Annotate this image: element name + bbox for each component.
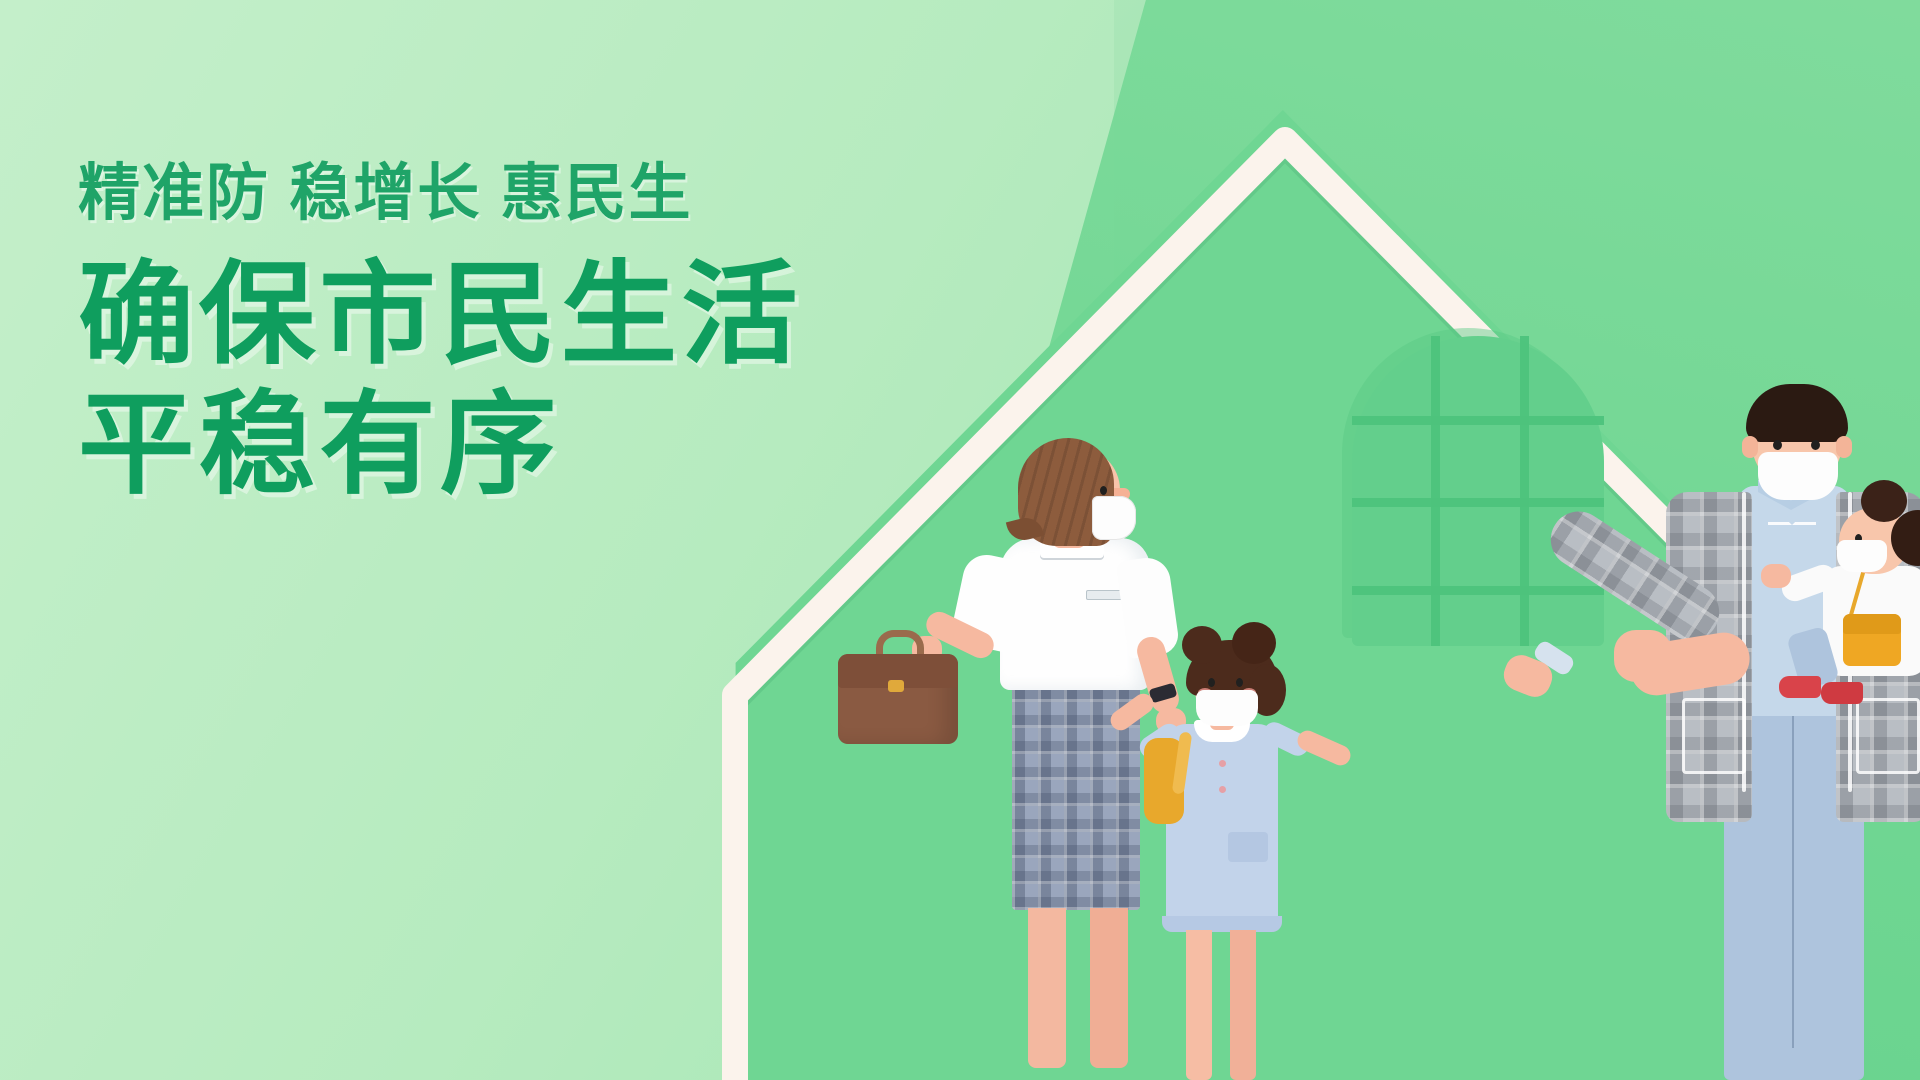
daughter-hair-bun-right: [1232, 622, 1276, 664]
daughter-hair-bun-left: [1182, 626, 1222, 664]
daughter-eye-left: [1208, 678, 1215, 687]
figure-toddler: [1795, 510, 1920, 740]
father-ear-left: [1742, 436, 1758, 458]
daughter-leg-left: [1186, 930, 1212, 1080]
father-coat-pocket-left: [1682, 698, 1746, 774]
daughter-forearm-right: [1294, 727, 1353, 768]
daughter-pocket: [1228, 832, 1268, 862]
toddler-face-mask: [1837, 540, 1887, 572]
window-mullion-h3: [1352, 586, 1604, 595]
mother-eye: [1100, 486, 1107, 495]
toddler-hand: [1761, 564, 1791, 588]
toddler-shoe-left: [1779, 676, 1821, 698]
arched-window: [1352, 336, 1604, 646]
father-eye-left: [1773, 440, 1782, 450]
headline-line-2: 平稳有序: [78, 380, 993, 510]
mother-handbag-clasp: [888, 680, 904, 692]
toddler-shoulder-bag-flap: [1843, 614, 1901, 634]
daughter-face-mask: [1196, 690, 1258, 726]
headline-line-1: 确保市民生活: [78, 250, 993, 380]
father-hand-supporting: [1614, 630, 1672, 682]
headline-block: 精准防 稳增长 惠民生 确保市民生活 平稳有序: [78, 160, 958, 510]
window-mullion-h1: [1352, 416, 1604, 425]
father-hair: [1746, 384, 1848, 442]
poster-headline: 确保市民生活 平稳有序: [78, 250, 993, 510]
daughter-eye-right: [1236, 678, 1243, 687]
father-eyebrow-right: [1806, 428, 1826, 432]
mother-leg-left: [1028, 908, 1066, 1068]
daughter-leg-right: [1230, 930, 1256, 1080]
poster-subtitle: 精准防 稳增长 惠民生: [78, 160, 958, 228]
window-mullion-v1: [1431, 336, 1440, 646]
father-jeans-seam: [1792, 708, 1794, 1048]
father-face-mask: [1758, 452, 1838, 500]
father-eye-right: [1811, 440, 1820, 450]
father-eyebrow-left: [1768, 428, 1788, 432]
father-ear-right: [1836, 436, 1852, 458]
figure-daughter: [1120, 620, 1350, 1080]
daughter-button-1: [1219, 760, 1226, 767]
mother-face-mask: [1092, 496, 1136, 540]
daughter-dress-hem: [1162, 916, 1282, 932]
window-mullion-v2: [1520, 336, 1529, 646]
toddler-shoe-right: [1821, 682, 1863, 704]
daughter-button-2: [1219, 786, 1226, 793]
window-mullion-h2: [1352, 498, 1604, 507]
poster-canvas: 精准防 稳增长 惠民生 确保市民生活 平稳有序: [0, 0, 1920, 1080]
